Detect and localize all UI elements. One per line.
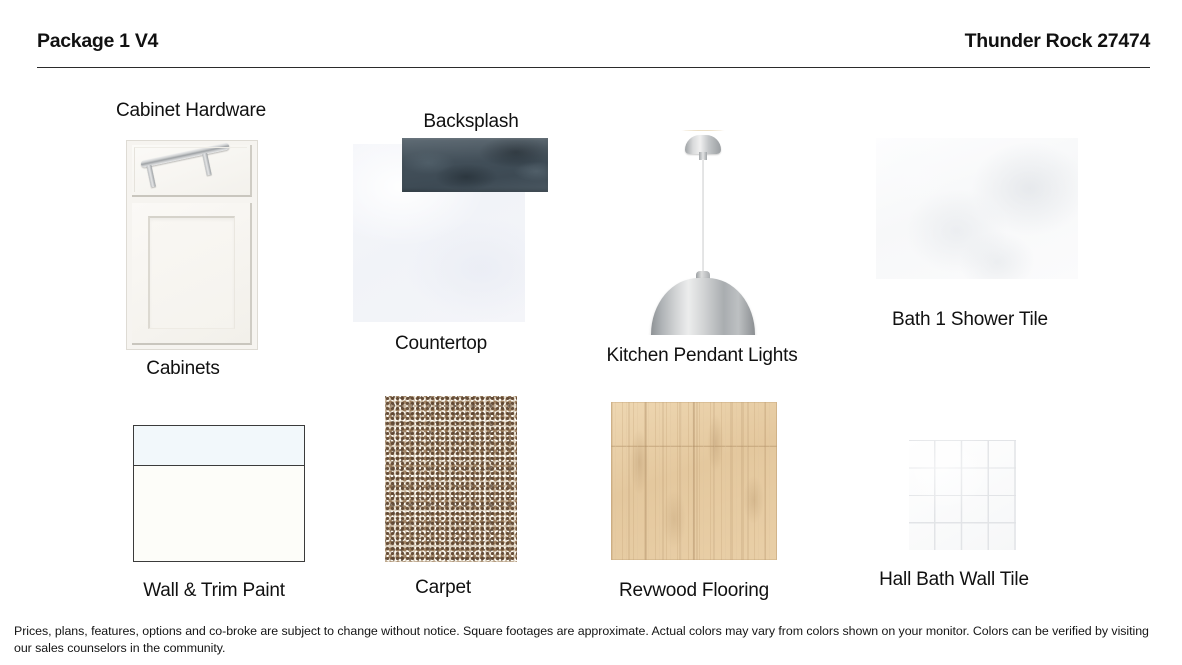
selection-label-backsplash: Backsplash [395, 111, 547, 133]
dome-pendant-light-icon [651, 278, 755, 335]
footer-disclaimer: Prices, plans, features, options and co-… [14, 623, 1154, 657]
tile-gloss-highlight [402, 138, 548, 162]
pendant-inner-diffuser [657, 130, 749, 131]
community-name: Thunder Rock 27474 [965, 30, 1150, 53]
selection-swatch-carpet[interactable] [385, 396, 517, 562]
selection-swatch-wall-trim-paint[interactable] [133, 425, 305, 562]
selection-swatch-revwood-flooring[interactable] [611, 402, 777, 560]
cabinet-door-front [132, 203, 252, 345]
selection-swatch-hall-bath-wall-tile[interactable] [909, 440, 1016, 550]
cabinet-drawer-front [132, 145, 252, 197]
selection-label-revwood-flooring: Revwood Flooring [608, 580, 780, 602]
selection-label-countertop: Countertop [365, 333, 517, 355]
selection-label-hall-bath-wall-tile: Hall Bath Wall Tile [868, 569, 1040, 591]
selection-label-wall-trim-paint: Wall & Trim Paint [128, 580, 300, 602]
paint-trim-band [134, 426, 304, 466]
selection-label-kitchen-pendant-lights: Kitchen Pendant Lights [590, 345, 814, 367]
selection-label-cabinet-hardware: Cabinet Hardware [106, 100, 276, 122]
selection-swatch-bath-1-shower-tile[interactable] [876, 138, 1078, 279]
selection-swatch-kitchen-pendant-lights[interactable] [615, 130, 791, 335]
cabinet-recessed-panel [148, 216, 235, 329]
selection-swatch-backsplash[interactable] [402, 138, 548, 192]
pendant-cord [702, 159, 704, 275]
selection-label-carpet: Carpet [367, 577, 519, 599]
header-divider [37, 67, 1150, 68]
cabinet-bar-pull-icon [140, 142, 229, 168]
tile-sheen-overlay [909, 440, 1016, 550]
selection-label-cabinets: Cabinets [97, 358, 269, 380]
page-title: Package 1 V4 [37, 30, 158, 53]
selection-label-bath-1-shower-tile: Bath 1 Shower Tile [860, 309, 1080, 331]
selection-swatch-cabinets[interactable] [126, 140, 258, 350]
page-header: Package 1 V4 Thunder Rock 27474 [37, 30, 1150, 68]
